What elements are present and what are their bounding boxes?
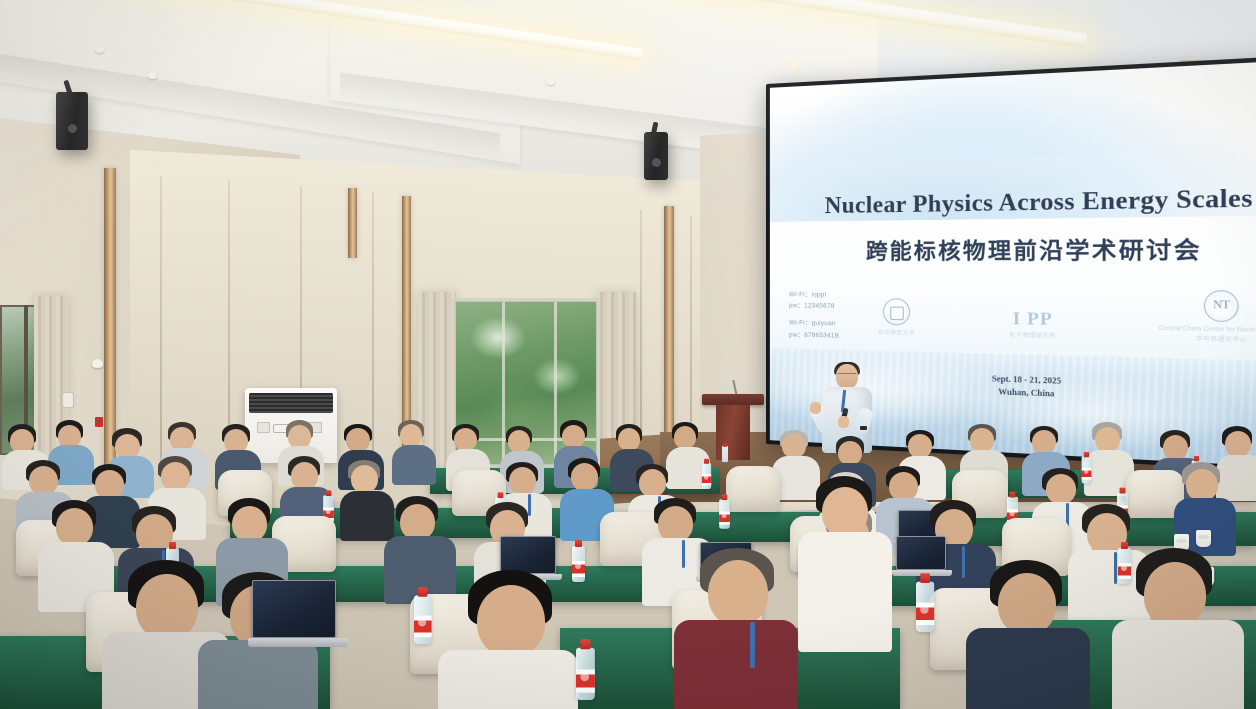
water-bottle bbox=[1082, 457, 1092, 484]
wifi-ssid-2: Wi-Fi：guiyuan bbox=[789, 318, 839, 330]
bronze-trim-4 bbox=[664, 206, 674, 446]
wifi-password-2: pw：67865341B bbox=[789, 329, 839, 342]
wall-seam-5 bbox=[640, 210, 642, 460]
logo-cnt-caption-cn: 华中核理论中心 bbox=[1159, 333, 1256, 345]
bronze-trim-2 bbox=[348, 188, 357, 258]
wall-junction-box bbox=[62, 392, 74, 408]
security-camera-icon bbox=[92, 359, 103, 368]
laptop-screen bbox=[500, 536, 556, 574]
lectern-water-bottle bbox=[722, 446, 728, 462]
presenter-hand-left bbox=[810, 402, 821, 414]
water-bottle bbox=[1118, 548, 1131, 584]
lectern bbox=[706, 394, 760, 460]
wifi-group-1: Wi-Fi：ioppl pw：12345678 bbox=[789, 289, 839, 313]
ceiling-sensor-2 bbox=[95, 46, 104, 53]
logo-university: 华中师范大学 bbox=[878, 298, 915, 337]
water-bottle bbox=[702, 463, 711, 489]
water-bottle bbox=[916, 582, 934, 632]
logo-cnt: NT Central China Center for Nuclear Theo… bbox=[1159, 290, 1256, 345]
slide-title-chinese: 跨能标核物理前沿学术研讨会 bbox=[794, 231, 1256, 266]
lectern-top bbox=[702, 394, 764, 405]
cnt-circle-icon: NT bbox=[1204, 290, 1239, 322]
laptop-screen bbox=[252, 580, 336, 638]
water-bottle bbox=[572, 546, 585, 582]
laptop-keyboard bbox=[248, 638, 348, 647]
bronze-trim-1 bbox=[104, 168, 116, 468]
wall-seam-1 bbox=[160, 176, 162, 466]
logo-university-caption: 华中师范大学 bbox=[878, 328, 915, 337]
presenter-glasses-icon bbox=[838, 373, 856, 377]
ceiling-sensor-1 bbox=[148, 72, 157, 79]
laptop-screen bbox=[896, 536, 946, 570]
ipp-wordmark-icon: I PP bbox=[1010, 309, 1056, 328]
wall-speaker-left bbox=[56, 92, 88, 150]
presenter-watch bbox=[860, 426, 867, 430]
wifi-password-1: pw：12345678 bbox=[789, 300, 839, 312]
wall-speaker-right bbox=[644, 132, 668, 180]
ac-sticker-left bbox=[257, 422, 270, 433]
wall-seam-6 bbox=[690, 216, 692, 456]
university-seal-icon bbox=[883, 298, 910, 325]
presenter-hand-right bbox=[838, 416, 849, 428]
ceiling-sensor-3 bbox=[546, 78, 555, 85]
water-bottle bbox=[719, 499, 730, 529]
fire-alarm-icon bbox=[95, 417, 103, 427]
logo-ipp-caption: 粒子物理研究所 bbox=[1010, 331, 1056, 341]
water-bottle bbox=[576, 648, 595, 700]
logo-ipp: I PP 粒子物理研究所 bbox=[1010, 309, 1056, 340]
wifi-group-2: Wi-Fi：guiyuan pw：67865341B bbox=[789, 318, 839, 342]
wall-seam-4 bbox=[372, 192, 374, 474]
paper-cup bbox=[1196, 530, 1211, 547]
water-bottle bbox=[414, 595, 432, 644]
chair bbox=[726, 466, 780, 512]
wifi-ssid-1: Wi-Fi：ioppl bbox=[789, 289, 839, 301]
downlight-6 bbox=[786, 60, 803, 70]
ac-grille bbox=[249, 393, 333, 413]
slide-wifi-info: Wi-Fi：ioppl pw：12345678 Wi-Fi：guiyuan pw… bbox=[789, 289, 839, 348]
conference-hall-photo: Nuclear Physics Across Energy Scales 跨能标… bbox=[0, 0, 1256, 709]
slide-logo-row: 华中师范大学 I PP 粒子物理研究所 NT Central China Cen… bbox=[878, 288, 1256, 345]
